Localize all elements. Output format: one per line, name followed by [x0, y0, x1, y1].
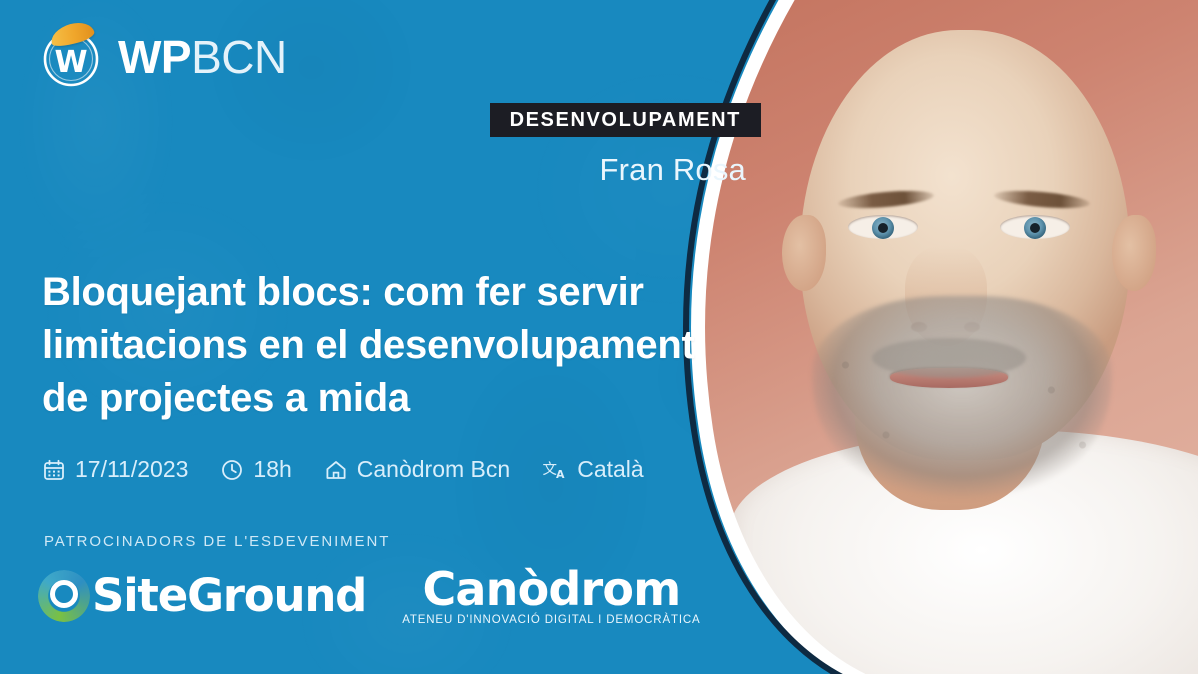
clock-icon	[220, 458, 244, 482]
iris-left	[872, 217, 894, 239]
siteground-inner-ring	[50, 580, 78, 608]
eye-right	[1000, 215, 1070, 239]
brand-bcn: BCN	[191, 34, 287, 80]
home-icon	[324, 458, 348, 482]
sponsor-canodrom[interactable]: Canòdrom ATENEU D'INNOVACIÓ DIGITAL I DE…	[402, 566, 700, 626]
meta-venue-label: Canòdrom Bcn	[357, 456, 510, 483]
brand-wordmark: WP BCN	[118, 34, 287, 80]
svg-text:A: A	[556, 468, 565, 481]
meta-date-label: 17/11/2023	[75, 456, 188, 483]
brand-logo: W WP BCN	[40, 26, 287, 88]
meta-time: 18h	[220, 456, 291, 483]
talk-title-line-3: de projectes a mida	[42, 372, 812, 425]
speaker-name: Fran Rosa	[599, 152, 746, 188]
category-badge: DESENVOLUPAMENT	[490, 103, 761, 137]
meta-date: 17/11/2023	[42, 456, 188, 483]
pupil-right	[1030, 223, 1040, 233]
sponsors-label: PATROCINADORS DE L'ESDEVENIMENT	[44, 533, 390, 550]
sponsor-logos: SiteGround Canòdrom ATENEU D'INNOVACIÓ D…	[38, 566, 701, 626]
talk-title-line-1: Bloquejant blocs: com fer servir	[42, 266, 812, 319]
wordpress-barretina-icon: W	[40, 26, 102, 88]
talk-title-line-2: limitacions en el desenvolupament	[42, 319, 812, 372]
translate-icon: 文 A	[542, 458, 568, 482]
meta-time-label: 18h	[253, 456, 291, 483]
canodrom-wordmark: Canòdrom	[422, 566, 680, 613]
siteground-swirl-icon	[38, 570, 90, 622]
brand-wp: WP	[118, 34, 191, 80]
pupil-left	[878, 223, 888, 233]
svg-text:W: W	[54, 45, 87, 80]
meta-venue: Canòdrom Bcn	[324, 456, 510, 483]
session-meta: 17/11/2023 18h Canòdrom Bcn 文 A Català	[42, 456, 644, 483]
meta-language: 文 A Català	[542, 456, 643, 483]
sponsor-siteground[interactable]: SiteGround	[38, 569, 366, 622]
eye-left	[848, 215, 918, 239]
siteground-wordmark: SiteGround	[92, 569, 366, 622]
iris-right	[1024, 217, 1046, 239]
meta-language-label: Català	[577, 456, 643, 483]
event-announcement-slide: W WP BCN DESENVOLUPAMENT Fran Rosa Bloqu…	[0, 0, 1198, 674]
talk-title: Bloquejant blocs: com fer servir limitac…	[42, 266, 812, 426]
ear-right	[1112, 215, 1156, 291]
calendar-icon	[42, 458, 66, 482]
